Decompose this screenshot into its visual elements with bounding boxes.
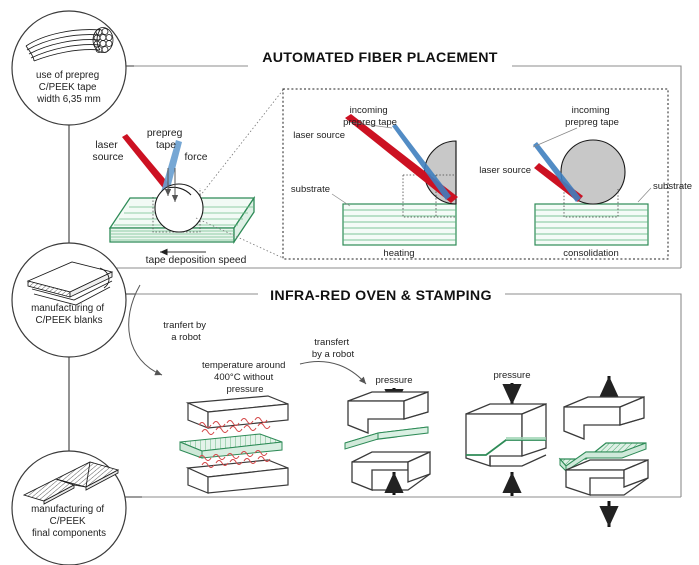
label-laser-source: laser source [93,140,124,163]
stage-circle-blanks[interactable]: manufacturing of C/PEEK blanks [12,243,126,357]
heating-label-incoming-tape: incoming prepreg tape [343,105,397,128]
stage-label-blanks: manufacturing of C/PEEK blanks [31,303,107,326]
label-pressure-2: pressure [494,370,531,381]
transfer-arrow-1 [129,285,162,375]
consolidation-label-laser-source: laser source [479,165,531,176]
diagram-canvas: use of prepreg C/PEEK tape width 6,35 mm… [0,0,699,565]
heating-caption: heating [383,248,414,259]
stamp-stage-dies-open: pressure [345,375,430,495]
heating-label-substrate: substrate [291,184,330,195]
section-title-stamping: INFRA-RED OVEN & STAMPING [270,288,492,304]
label-oven-note: temperature around 400°C without pressur… [202,360,288,395]
label-deposition-speed: tape deposition speed [146,255,247,266]
stamp-stage-dies-closed: pressure [466,370,546,496]
stamping-scene: tranfert by a robot transfert by a robot… [129,285,648,527]
label-transfer-1: tranfert by a robot [163,320,208,343]
process-flow-diagram: use of prepreg C/PEEK tape width 6,35 mm… [0,0,699,565]
consolidation-label-substrate: substrate [653,181,692,192]
label-pressure-1: pressure [376,375,413,386]
consolidation-caption: consolidation [563,248,618,259]
stage-circle-tape[interactable]: use of prepreg C/PEEK tape width 6,35 mm [12,11,126,125]
stage-label-tape: use of prepreg C/PEEK tape width 6,35 mm [36,70,102,105]
label-force: force [185,152,208,163]
stamp-stage-demold [560,376,648,527]
transfer-arrow-2 [300,361,366,384]
stage-circle-components[interactable]: manufacturing of C/PEEK final components [12,451,126,565]
consolidation-label-incoming-tape: incoming prepreg tape [565,105,619,128]
section-title-afp: AUTOMATED FIBER PLACEMENT [262,50,498,66]
stamp-stage-ir-oven [180,396,288,493]
heating-label-laser-source: laser source [293,130,345,141]
label-transfer-2: transfert by a robot [312,337,355,360]
compaction-roller [155,184,203,232]
afp-main-scene: laser source prepreg tape force tape dep… [93,90,283,266]
afp-inset-panel: laser source incoming prepreg tape subst… [283,89,692,259]
